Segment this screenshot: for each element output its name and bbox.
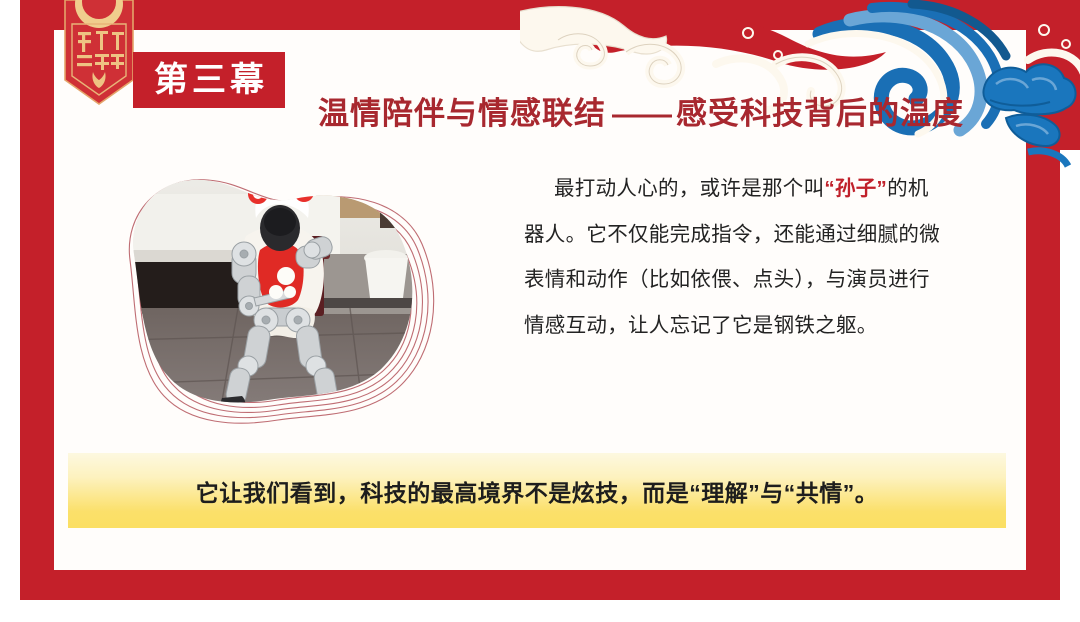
act-badge: 第三幕 [133,52,285,108]
paragraph-segment-2: 的机器人。它不仅能完成指令，还能通过细腻的微表情和动作（比如依偎、点头），与演员… [524,177,940,337]
robot-photo-image [120,158,448,436]
slide-root: 最打动人心的，或许是那个叫“孙子”的机器人。它不仅能完成指令，还能通过细腻的微表… [0,0,1080,622]
paragraph-highlight: “孙子” [824,177,887,200]
page-title: 温情陪伴与情感联结——感受科技背后的温度 [318,96,998,132]
humanoid-robot-photo [104,148,464,448]
hanging-banner-ornament-icon [57,0,141,108]
callout-text: 它让我们看到，科技的最高境界不是炫技，而是“理解”与“共情”。 [196,474,879,508]
title-right: 感受科技背后的温度 [676,96,964,131]
callout-box: 它让我们看到，科技的最高境界不是炫技，而是“理解”与“共情”。 [68,453,1006,528]
body-paragraph: 最打动人心的，或许是那个叫“孙子”的机器人。它不仅能完成指令，还能通过细腻的微表… [524,166,942,348]
title-left: 温情陪伴与情感联结 [318,96,606,131]
title-dash: —— [612,96,670,132]
paragraph-segment-1: 最打动人心的，或许是那个叫 [554,177,824,200]
act-badge-label: 第三幕 [150,63,268,97]
